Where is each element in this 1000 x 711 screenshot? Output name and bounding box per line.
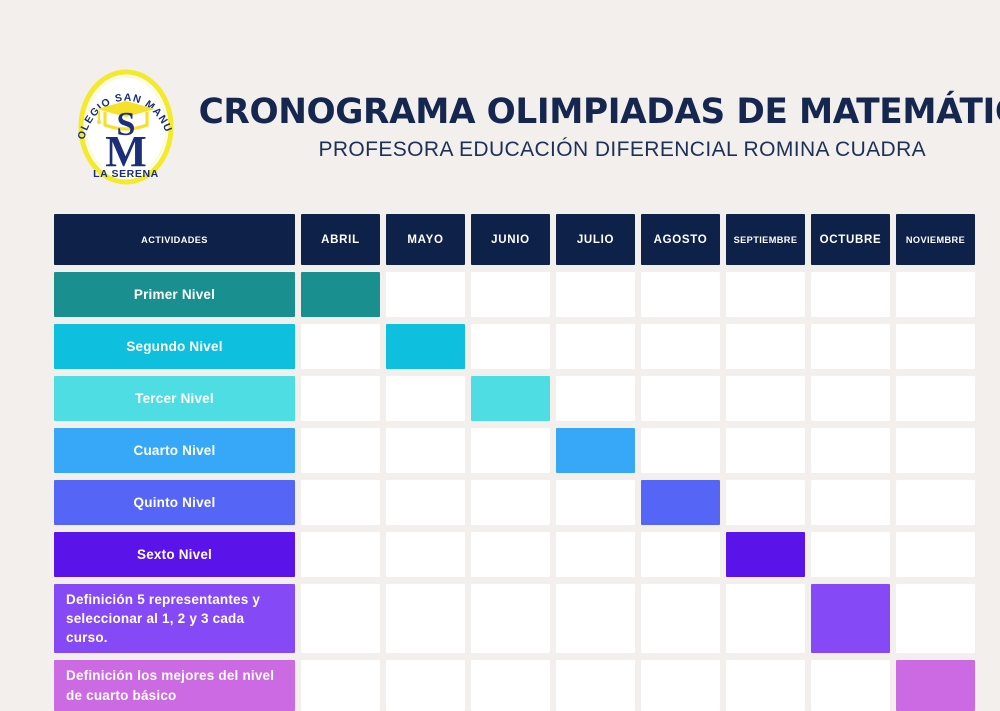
schedule-cell-empty[interactable]: [726, 480, 805, 525]
schedule-cell-empty[interactable]: [726, 428, 805, 473]
schedule-cell-empty[interactable]: [471, 272, 550, 317]
column-header-abril: ABRIL: [301, 214, 380, 265]
page-subtitle: PROFESORA EDUCACIÓN DIFERENCIAL ROMINA C…: [190, 138, 1000, 161]
schedule-cell-empty[interactable]: [471, 660, 550, 710]
schedule-cell-empty[interactable]: [301, 480, 380, 525]
schedule-cell-empty[interactable]: [811, 376, 890, 421]
schedule-cell-empty[interactable]: [641, 532, 720, 577]
schedule-cell-empty[interactable]: [896, 376, 975, 421]
schedule-cell-empty[interactable]: [386, 428, 465, 473]
title-block: CRONOGRAMA OLIMPIADAS DE MATEMÁTICA PROF…: [190, 93, 1000, 162]
column-header-junio: JUNIO: [471, 214, 550, 265]
schedule-cell-filled[interactable]: [386, 324, 465, 369]
schedule-cell-filled[interactable]: [301, 272, 380, 317]
schedule-cell-filled[interactable]: [726, 532, 805, 577]
schedule-cell-empty[interactable]: [556, 480, 635, 525]
schedule-grid: ACTIVIDADESABRILMAYOJUNIOJULIOAGOSTOSEPT…: [54, 214, 974, 711]
schedule-cell-empty[interactable]: [301, 532, 380, 577]
schedule-cell-empty[interactable]: [471, 324, 550, 369]
column-header-julio: JULIO: [556, 214, 635, 265]
schedule-cell-empty[interactable]: [301, 428, 380, 473]
column-header-octubre: OCTUBRE: [811, 214, 890, 265]
row-label: Cuarto Nivel: [54, 428, 295, 473]
schedule-cell-empty[interactable]: [471, 532, 550, 577]
school-logo: COLEGIO SAN MANUEL S M LA SERENA: [66, 63, 186, 191]
schedule-cell-empty[interactable]: [301, 584, 380, 653]
schedule-cell-empty[interactable]: [811, 272, 890, 317]
schedule-cell-empty[interactable]: [811, 428, 890, 473]
svg-text:LA SERENA: LA SERENA: [93, 168, 159, 180]
schedule-cell-empty[interactable]: [726, 376, 805, 421]
row-label: Definición 5 representantes y selecciona…: [54, 584, 295, 653]
column-header-agosto: AGOSTO: [641, 214, 720, 265]
schedule-cell-empty[interactable]: [896, 532, 975, 577]
column-header-septiembre: SEPTIEMBRE: [726, 214, 805, 265]
schedule-cell-empty[interactable]: [641, 660, 720, 710]
schedule-cell-empty[interactable]: [641, 272, 720, 317]
page-header: COLEGIO SAN MANUEL S M LA SERENA CRONOGR…: [0, 62, 1000, 192]
row-label: Primer Nivel: [54, 272, 295, 317]
schedule-cell-empty[interactable]: [386, 584, 465, 653]
schedule-cell-empty[interactable]: [896, 324, 975, 369]
schedule-cell-empty[interactable]: [811, 660, 890, 710]
schedule-cell-empty[interactable]: [301, 324, 380, 369]
schedule-cell-empty[interactable]: [726, 324, 805, 369]
row-label: Segundo Nivel: [54, 324, 295, 369]
schedule-cell-empty[interactable]: [726, 660, 805, 710]
column-header-mayo: MAYO: [386, 214, 465, 265]
schedule-cell-empty[interactable]: [811, 532, 890, 577]
schedule-cell-empty[interactable]: [556, 532, 635, 577]
schedule-cell-empty[interactable]: [811, 324, 890, 369]
schedule-cell-empty[interactable]: [556, 272, 635, 317]
schedule-cell-empty[interactable]: [641, 324, 720, 369]
schedule-cell-empty[interactable]: [811, 480, 890, 525]
schedule-cell-empty[interactable]: [896, 272, 975, 317]
row-label: Tercer Nivel: [54, 376, 295, 421]
schedule-cell-filled[interactable]: [556, 428, 635, 473]
schedule-cell-empty[interactable]: [386, 532, 465, 577]
schedule-cell-empty[interactable]: [386, 376, 465, 421]
row-label: Definición los mejores del nivel de cuar…: [54, 660, 295, 710]
page-title: CRONOGRAMA OLIMPIADAS DE MATEMÁTICA: [199, 93, 1000, 132]
column-header-noviembre: NOVIEMBRE: [896, 214, 975, 265]
colegio-san-manuel-logo-icon: COLEGIO SAN MANUEL S M LA SERENA: [67, 63, 185, 191]
schedule-cell-filled[interactable]: [641, 480, 720, 525]
schedule-cell-empty[interactable]: [471, 584, 550, 653]
schedule-cell-empty[interactable]: [641, 376, 720, 421]
schedule-cell-empty[interactable]: [386, 480, 465, 525]
schedule-cell-empty[interactable]: [556, 584, 635, 653]
schedule-cell-filled[interactable]: [896, 660, 975, 710]
schedule-cell-empty[interactable]: [301, 376, 380, 421]
schedule-cell-empty[interactable]: [726, 272, 805, 317]
schedule-cell-empty[interactable]: [471, 428, 550, 473]
schedule-cell-empty[interactable]: [896, 480, 975, 525]
schedule-cell-empty[interactable]: [556, 324, 635, 369]
schedule-cell-empty[interactable]: [726, 584, 805, 653]
schedule-cell-filled[interactable]: [811, 584, 890, 653]
row-label: Quinto Nivel: [54, 480, 295, 525]
schedule-cell-filled[interactable]: [471, 376, 550, 421]
schedule-cell-empty[interactable]: [641, 584, 720, 653]
schedule-cell-empty[interactable]: [386, 272, 465, 317]
row-label: Sexto Nivel: [54, 532, 295, 577]
schedule-cell-empty[interactable]: [471, 480, 550, 525]
schedule-cell-empty[interactable]: [641, 428, 720, 473]
gantt-chart-page: COLEGIO SAN MANUEL S M LA SERENA CRONOGR…: [0, 0, 1000, 707]
column-header-activities: ACTIVIDADES: [54, 214, 295, 265]
schedule-cell-empty[interactable]: [556, 376, 635, 421]
schedule-cell-empty[interactable]: [896, 428, 975, 473]
schedule-cell-empty[interactable]: [301, 660, 380, 710]
schedule-cell-empty[interactable]: [556, 660, 635, 710]
schedule-cell-empty[interactable]: [896, 584, 975, 653]
schedule-cell-empty[interactable]: [386, 660, 465, 710]
